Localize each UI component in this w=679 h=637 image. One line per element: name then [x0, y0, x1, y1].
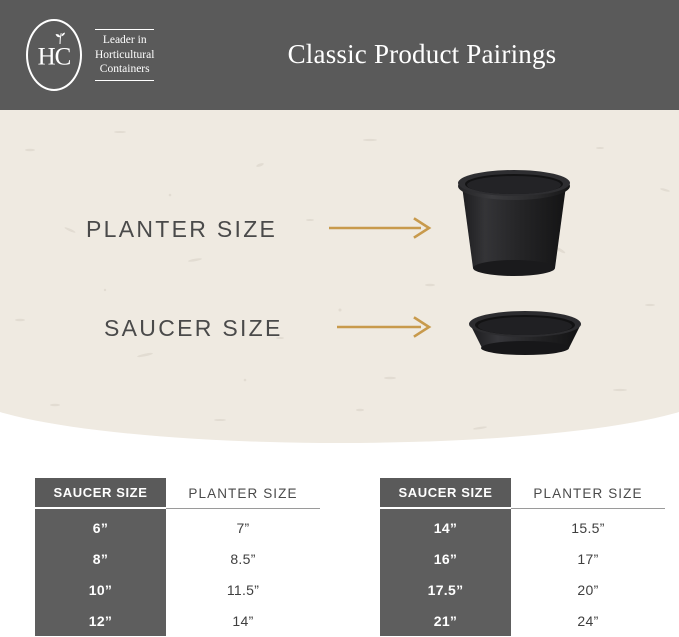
- page-header: HC Leader in Horticultural Containers Cl…: [0, 0, 679, 110]
- table-row: 8”: [35, 544, 166, 575]
- table-row: 12”: [35, 606, 166, 637]
- size-table-right: SAUCER SIZE 14” 16” 17.5” 21” PLANTER SI…: [380, 478, 665, 636]
- planter-product-image: [455, 168, 573, 285]
- saucer-size-column-right: SAUCER SIZE 14” 16” 17.5” 21”: [380, 478, 511, 636]
- hero-background: [0, 110, 679, 443]
- planter-size-header-left: PLANTER SIZE: [166, 478, 320, 509]
- table-row: 15.5”: [511, 513, 665, 544]
- hero-panel: PLANTER SIZE SAUCER SIZE: [0, 110, 679, 443]
- saucer-arrow-icon: [337, 316, 433, 338]
- planter-size-column-right: PLANTER SIZE 15.5” 17” 20” 24”: [511, 478, 665, 636]
- page-title: Classic Product Pairings: [0, 39, 679, 70]
- table-row: 6”: [35, 513, 166, 544]
- size-table-left: SAUCER SIZE 6” 8” 10” 12” PLANTER SIZE 7…: [35, 478, 320, 636]
- table-row: 14”: [166, 606, 320, 637]
- planter-size-header-label: PLANTER SIZE: [188, 486, 297, 501]
- saucer-size-header-right: SAUCER SIZE: [380, 478, 511, 509]
- table-row: 7”: [166, 513, 320, 544]
- saucer-size-header-label: SAUCER SIZE: [53, 485, 147, 500]
- saucer-size-header-label: SAUCER SIZE: [398, 485, 492, 500]
- table-row: 17.5”: [380, 575, 511, 606]
- table-row: 21”: [380, 606, 511, 637]
- saucer-size-column-left: SAUCER SIZE 6” 8” 10” 12”: [35, 478, 166, 636]
- table-row: 11.5”: [166, 575, 320, 606]
- saucer-size-header-left: SAUCER SIZE: [35, 478, 166, 509]
- planter-size-header-right: PLANTER SIZE: [511, 478, 665, 509]
- table-row: 20”: [511, 575, 665, 606]
- planter-arrow-icon: [329, 217, 433, 239]
- saucer-size-label: SAUCER SIZE: [104, 315, 283, 342]
- table-row: 16”: [380, 544, 511, 575]
- planter-size-label: PLANTER SIZE: [86, 216, 277, 243]
- planter-size-column-left: PLANTER SIZE 7” 8.5” 11.5” 14”: [166, 478, 320, 636]
- planter-size-header-label: PLANTER SIZE: [533, 486, 642, 501]
- table-row: 17”: [511, 544, 665, 575]
- table-row: 10”: [35, 575, 166, 606]
- saucer-product-image: [466, 308, 585, 360]
- table-row: 8.5”: [166, 544, 320, 575]
- table-row: 14”: [380, 513, 511, 544]
- texture-speckles: [0, 110, 679, 443]
- size-tables-region: SAUCER SIZE 6” 8” 10” 12” PLANTER SIZE 7…: [0, 478, 679, 636]
- table-row: 24”: [511, 606, 665, 637]
